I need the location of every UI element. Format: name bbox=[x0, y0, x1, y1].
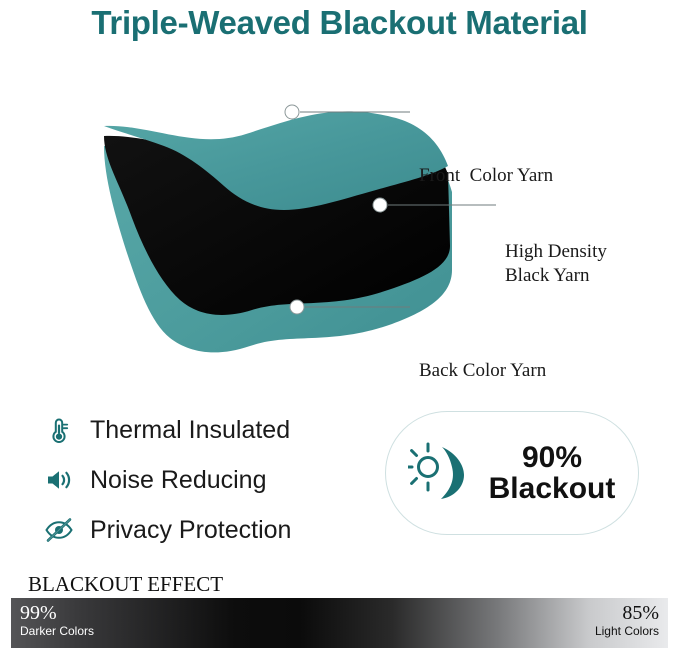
blackout-effect-left: 99% Darker Colors bbox=[20, 602, 94, 639]
blackout-effect-title: BLACKOUT EFFECT bbox=[28, 572, 223, 597]
right-caption: Light Colors bbox=[595, 625, 659, 639]
page-title: Triple-Weaved Blackout Material bbox=[0, 4, 679, 42]
blackout-effect-gradient-bar bbox=[11, 598, 668, 648]
feature-thermal-insulated: Thermal Insulated bbox=[42, 408, 372, 452]
eye-slash-icon bbox=[42, 513, 76, 547]
callout-label-front-color-yarn: Front Color Yarn bbox=[419, 164, 553, 188]
blackout-word: Blackout bbox=[480, 473, 624, 505]
callout-label-back-color-yarn: Back Color Yarn bbox=[419, 359, 546, 383]
feature-noise-reducing: Noise Reducing bbox=[42, 458, 372, 502]
blackout-badge: 90% Blackout bbox=[385, 411, 639, 535]
blackout-percent: 90% bbox=[480, 442, 624, 474]
fabric-layers-diagram: Front Color Yarn High Density Black Yarn… bbox=[0, 60, 679, 360]
sun-blocked-icon bbox=[408, 441, 472, 505]
callout-label-high-density-black-yarn: High Density Black Yarn bbox=[505, 240, 607, 288]
blackout-badge-text: 90% Blackout bbox=[480, 442, 638, 505]
feature-label: Privacy Protection bbox=[90, 516, 291, 545]
blackout-effect-right: 85% Light Colors bbox=[595, 602, 659, 639]
feature-list: Thermal Insulated Noise Reducing Privacy… bbox=[42, 408, 372, 558]
right-percent: 85% bbox=[595, 602, 659, 625]
left-caption: Darker Colors bbox=[20, 625, 94, 639]
feature-label: Thermal Insulated bbox=[90, 416, 290, 445]
feature-privacy-protection: Privacy Protection bbox=[42, 508, 372, 552]
thermometer-icon bbox=[42, 413, 76, 447]
fabric-layers-svg bbox=[0, 60, 679, 360]
left-percent: 99% bbox=[20, 602, 94, 625]
feature-label: Noise Reducing bbox=[90, 466, 267, 495]
speaker-sound-icon bbox=[42, 463, 76, 497]
